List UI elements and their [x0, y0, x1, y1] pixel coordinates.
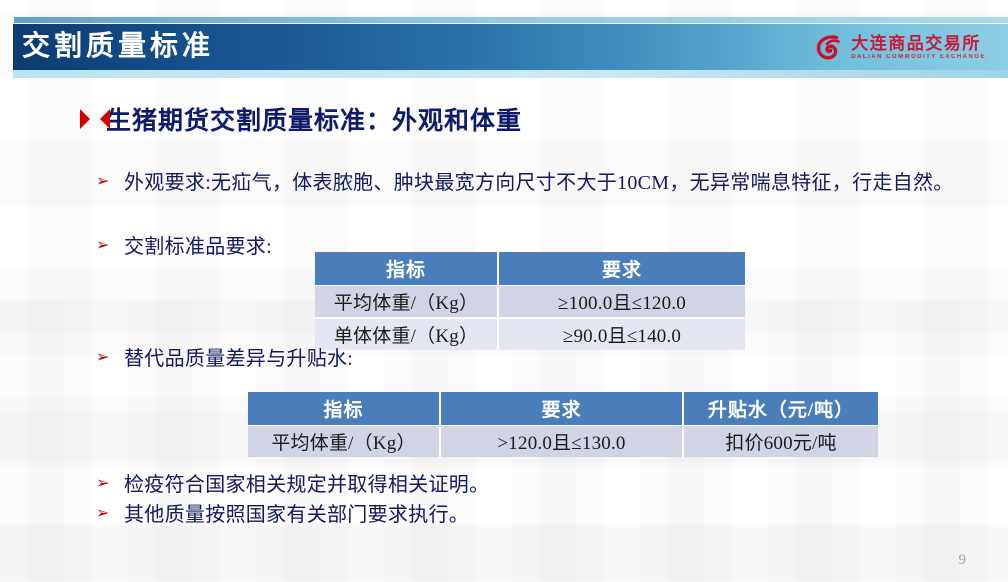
table-row: 平均体重/（Kg） ≥100.0且≤120.0	[315, 286, 745, 319]
table-header-cell: 要求	[440, 392, 683, 426]
table-header-cell: 指标	[315, 252, 498, 286]
bullet-item-standard-requirement: ➢ 交割标准品要求:	[96, 232, 272, 262]
dce-swirl-logo-icon	[814, 32, 844, 62]
substitute-premium-discount-table: 指标 要求 升贴水（元/吨） 平均体重/（Kg） >120.0且≤130.0 扣…	[248, 392, 878, 457]
header-top-accent-line	[14, 17, 1008, 23]
section-heading-text: 生猪期货交割质量标准：外观和体重	[106, 101, 522, 137]
table-cell: 扣价600元/吨	[683, 426, 878, 458]
table-row: 平均体重/（Kg） >120.0且≤130.0 扣价600元/吨	[248, 426, 878, 458]
bullet-item-substitute-premium: ➢ 替代品质量差异与升贴水:	[96, 344, 353, 374]
delivery-standard-table: 指标 要求 平均体重/（Kg） ≥100.0且≤120.0 单体体重/（Kg） …	[315, 252, 745, 350]
arrow-bullet-icon: ➢	[96, 173, 112, 189]
bullet-text: 其他质量按照国家有关部门要求执行。	[124, 500, 469, 530]
table-cell: 平均体重/（Kg）	[315, 286, 498, 319]
dce-logo: 大连商品交易所 DALIAN COMMODITY EXCHANGE	[814, 30, 986, 64]
arrow-bullet-icon: ➢	[96, 475, 112, 491]
slide-header: 交割质量标准 大连商品交易所 DALIAN COMMODITY EXCHANGE	[0, 17, 1008, 79]
bullet-text: 交割标准品要求:	[124, 232, 272, 262]
table-header-row: 指标 要求	[315, 252, 745, 286]
table-cell: ≥100.0且≤120.0	[498, 286, 745, 319]
bullet-text: 替代品质量差异与升贴水:	[124, 344, 353, 374]
diamond-bullet-icon	[80, 109, 100, 129]
table-header-cell: 要求	[498, 252, 745, 286]
bullet-item-quarantine: ➢ 检疫符合国家相关规定并取得相关证明。	[96, 470, 489, 500]
table-header-row: 指标 要求 升贴水（元/吨）	[248, 392, 878, 426]
page-title: 交割质量标准	[22, 26, 214, 68]
dce-logo-text: 大连商品交易所 DALIAN COMMODITY EXCHANGE	[851, 35, 986, 60]
page-number: 9	[959, 552, 967, 569]
table-cell: ≥90.0且≤140.0	[498, 318, 745, 350]
header-bottom-accent-line	[13, 70, 1008, 78]
bullet-item-appearance: ➢ 外观要求:无疝气，体表脓胞、肿块最宽方向尺寸不大于10CM，无异常喘息特征，…	[96, 168, 986, 198]
table-cell: >120.0且≤130.0	[440, 426, 683, 458]
arrow-bullet-icon: ➢	[96, 505, 112, 521]
slide-canvas: 交割质量标准 大连商品交易所 DALIAN COMMODITY EXCHANGE…	[0, 0, 1008, 582]
table-cell: 平均体重/（Kg）	[248, 426, 440, 458]
table-header-cell: 指标	[248, 392, 440, 426]
table-header-cell: 升贴水（元/吨）	[683, 392, 878, 426]
bullet-text: 外观要求:无疝气，体表脓胞、肿块最宽方向尺寸不大于10CM，无异常喘息特征，行走…	[124, 168, 954, 198]
dce-logo-name-cn: 大连商品交易所	[851, 35, 986, 52]
section-heading: 生猪期货交割质量标准：外观和体重	[80, 101, 522, 137]
bullet-item-other-quality: ➢ 其他质量按照国家有关部门要求执行。	[96, 500, 469, 530]
arrow-bullet-icon: ➢	[96, 349, 112, 365]
bullet-text: 检疫符合国家相关规定并取得相关证明。	[124, 470, 489, 500]
dce-logo-name-en: DALIAN COMMODITY EXCHANGE	[851, 54, 986, 60]
arrow-bullet-icon: ➢	[96, 237, 112, 253]
table-row: 单体体重/（Kg） ≥90.0且≤140.0	[315, 318, 745, 350]
